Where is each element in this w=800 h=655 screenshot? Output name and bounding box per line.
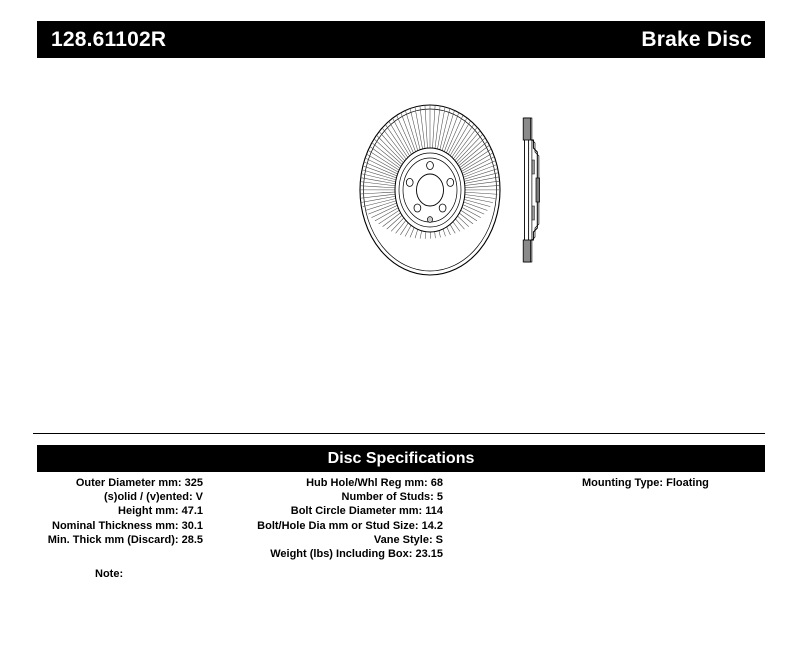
spec-row: Height mm: 47.1 — [37, 504, 203, 518]
spec-row: Outer Diameter mm: 325 — [37, 476, 203, 490]
product-illustration — [255, 90, 555, 290]
spec-row: Min. Thick mm (Discard): 28.5 — [37, 533, 203, 547]
spec-row: Hub Hole/Whl Reg mm: 68 — [223, 476, 443, 490]
part-number: 128.61102R — [51, 29, 166, 50]
header-bar: 128.61102R Brake Disc — [37, 21, 765, 58]
spec-row: Vane Style: S — [223, 533, 443, 547]
spec-row: Mounting Type: Floating — [582, 476, 727, 490]
note-label: Note: — [37, 568, 123, 580]
spec-column-left: Outer Diameter mm: 325 (s)olid / (v)ente… — [37, 476, 203, 547]
locating-pin-hole — [427, 217, 432, 223]
brake-rotor-edge-profile-view — [523, 118, 539, 262]
note-row: Note: — [37, 568, 437, 580]
spec-title: Disc Specifications — [328, 451, 475, 467]
spec-row: Nominal Thickness mm: 30.1 — [37, 519, 203, 533]
product-category-label: Brake Disc — [641, 29, 752, 50]
section-divider — [33, 433, 765, 434]
spec-table: Outer Diameter mm: 325 (s)olid / (v)ente… — [37, 476, 765, 576]
spec-column-center: Hub Hole/Whl Reg mm: 68 Number of Studs:… — [223, 476, 443, 561]
spec-row: Weight (lbs) Including Box: 23.15 — [223, 547, 443, 561]
spec-row: Number of Studs: 5 — [223, 490, 443, 504]
spec-title-bar: Disc Specifications — [37, 445, 765, 472]
spec-row: Bolt/Hole Dia mm or Stud Size: 14.2 — [223, 519, 443, 533]
spec-row: (s)olid / (v)ented: V — [37, 490, 203, 504]
spec-row: Bolt Circle Diameter mm: 114 — [223, 504, 443, 518]
spec-column-right: Mounting Type: Floating — [467, 476, 727, 490]
brake-rotor-face-view — [353, 105, 502, 275]
